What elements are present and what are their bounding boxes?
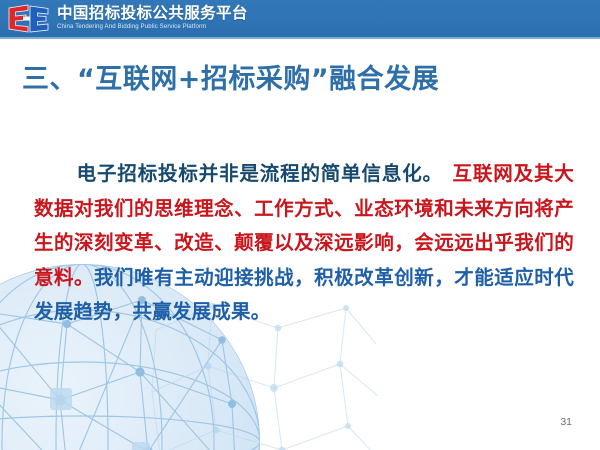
slide-title: 三、“互联网+招标采购”融合发展 [22,57,439,96]
body-line1-red: 互联网及其 [452,162,554,185]
platform-name-en: China Tendering And Bidding Public Servi… [57,24,248,30]
page-number: 31 [560,416,572,428]
platform-name-cn: 中国招标投标公共服务平台 [57,6,248,22]
slide-body-paragraph: 电子招标投标并非是流程的简单信息化。互联网及其大数据对我们的思维理念、工作方式、… [34,157,574,330]
header-branding: 中国招标投标公共服务平台 China Tendering And Bidding… [6,0,248,37]
header-underline [0,37,600,39]
body-blue-block: 我们唯有主动迎接挑战，积极改革创新，才能适应时代发展趋势，共赢发展成果。 [34,266,574,324]
slide-canvas: 中国招标投标公共服务平台 China Tendering And Bidding… [0,0,600,450]
header-text-block: 中国招标投标公共服务平台 China Tendering And Bidding… [57,6,248,30]
eb-logo-icon [6,4,50,34]
body-line1-dark: 电子招标投标并非是流程的简单信息化。 [76,162,443,185]
